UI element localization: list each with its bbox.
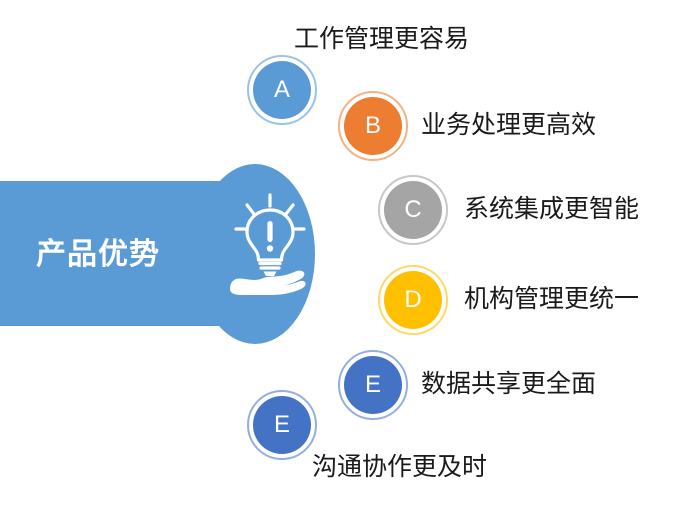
banner-title: 产品优势 [36, 236, 216, 274]
lightbulb-on-hand-icon [228, 193, 312, 297]
node-circle-a[interactable]: A [253, 61, 311, 119]
node-letter-c: C [404, 198, 421, 222]
diagram-canvas: 产品优势 A 工作管理更容易 [0, 0, 673, 515]
node-circle-f[interactable]: E [253, 396, 311, 454]
node-circle-d[interactable]: D [384, 271, 442, 329]
node-label-b: 业务处理更高效 [421, 110, 596, 140]
node-letter-a: A [274, 78, 290, 102]
node-letter-f: E [274, 413, 290, 437]
node-letter-b: B [365, 114, 381, 138]
node-circle-c[interactable]: C [384, 181, 442, 239]
node-label-f: 沟通协作更及时 [312, 452, 487, 482]
node-label-a: 工作管理更容易 [294, 24, 469, 54]
node-circle-b[interactable]: B [344, 97, 402, 155]
node-label-d: 机构管理更统一 [464, 284, 639, 314]
node-label-c: 系统集成更智能 [464, 194, 639, 224]
node-circle-e[interactable]: E [344, 356, 402, 414]
node-letter-d: D [404, 288, 421, 312]
node-letter-e: E [365, 373, 381, 397]
node-label-e: 数据共享更全面 [421, 369, 596, 399]
